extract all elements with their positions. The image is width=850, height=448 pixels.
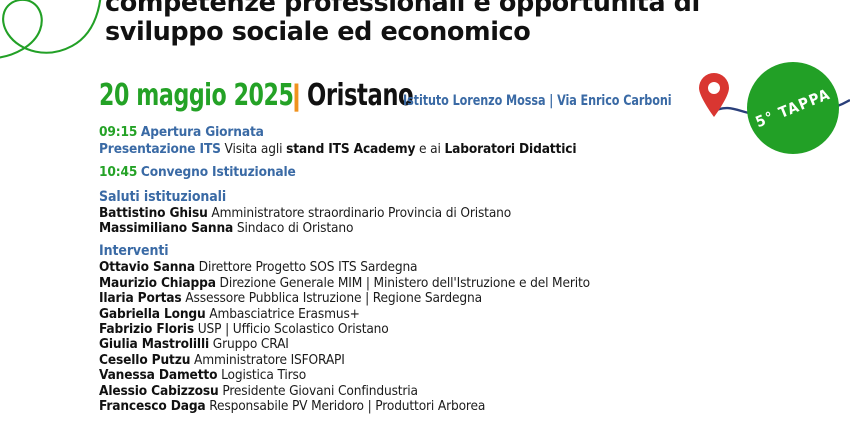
person-role: Direzione Generale MIM | Ministero dell'… (220, 275, 590, 291)
schedule-row: 09:15 Apertura Giornata (99, 124, 799, 141)
event-venue: Istituto Lorenzo Mossa | Via Enrico Carb… (403, 94, 672, 109)
person-row: Ottavio Sanna Direttore Progetto SOS ITS… (99, 260, 799, 275)
person-row: Battistino Ghisu Amministratore straordi… (99, 206, 799, 221)
person-role: Presidente Giovani Confindustria (222, 383, 418, 399)
event-city: Oristano (307, 81, 413, 111)
schedule-title: Apertura Giornata (141, 124, 264, 140)
person-role: Sindaco di Oristano (237, 220, 353, 236)
presentazione-mid2: e ai (415, 141, 444, 157)
event-date: 20 maggio 2025 (99, 81, 294, 111)
person-role: Direttore Progetto SOS ITS Sardegna (199, 259, 418, 275)
person-row: Massimiliano Sanna Sindaco di Oristano (99, 221, 799, 236)
person-name: Battistino Ghisu (99, 205, 208, 221)
event-poster: competenze professionali competenze prof… (0, 0, 850, 448)
person-row: Ilaria Portas Assessore Pubblica Istruzi… (99, 291, 799, 306)
person-row: Gabriella Longu Ambasciatrice Erasmus+ (99, 307, 799, 322)
person-row: Vanessa Dametto Logistica Tirso (99, 368, 799, 383)
person-role: Responsabile PV Meridoro | Produttori Ar… (209, 398, 485, 414)
person-row: Cesello Putzu Amministratore ISFORAPI (99, 353, 799, 368)
person-row: Maurizio Chiappa Direzione Generale MIM … (99, 276, 799, 291)
person-row: Alessio Cabizzosu Presidente Giovani Con… (99, 384, 799, 399)
person-role: Gruppo CRAI (213, 336, 289, 352)
person-name: Vanessa Dametto (99, 367, 217, 383)
person-role: Assessore Pubblica Istruzione | Regione … (185, 290, 482, 306)
section-heading-interventi: Interventi (99, 242, 799, 260)
section-heading-saluti: Saluti istituzionali (99, 188, 799, 206)
person-name: Giulia Mastrolilli (99, 336, 209, 352)
person-row: Fabrizio Floris USP | Ufficio Scolastico… (99, 322, 799, 337)
person-name: Francesco Daga (99, 398, 206, 414)
person-name: Maurizio Chiappa (99, 275, 216, 291)
program-list: 09:15 Apertura Giornata Presentazione IT… (99, 124, 799, 414)
person-role: Ambasciatrice Erasmus+ (209, 306, 359, 322)
person-name: Gabriella Longu (99, 306, 206, 322)
poster-heading: competenze professionali competenze prof… (105, 0, 745, 47)
person-row: Francesco Daga Responsabile PV Meridoro … (99, 399, 799, 414)
presentazione-strong: stand ITS Academy (286, 141, 415, 157)
person-name: Alessio Cabizzosu (99, 383, 219, 399)
person-name: Ottavio Sanna (99, 259, 195, 275)
person-role: USP | Ufficio Scolastico Oristano (198, 321, 389, 337)
person-name: Massimiliano Sanna (99, 220, 233, 236)
presentazione-mid: Visita agli (221, 141, 286, 157)
person-name: Ilaria Portas (99, 290, 182, 306)
person-row: Giulia Mastrolilli Gruppo CRAI (99, 337, 799, 352)
schedule-title: Convegno Istituzionale (141, 164, 296, 180)
heading-line-1: competenze professionali e opportunità d… (105, 0, 745, 18)
person-role: Logistica Tirso (221, 367, 306, 383)
person-role: Amministratore ISFORAPI (194, 352, 345, 368)
schedule-row: 10:45 Convegno Istituzionale (99, 164, 799, 181)
schedule-time: 10:45 (99, 164, 137, 180)
person-name: Cesello Putzu (99, 352, 190, 368)
person-role: Amministratore straordinario Provincia d… (211, 205, 511, 221)
map-pin-icon (697, 72, 731, 118)
schedule-row-presentazione: Presentazione ITS Visita agli stand ITS … (99, 141, 799, 158)
person-name: Fabrizio Floris (99, 321, 194, 337)
schedule-time: 09:15 (99, 124, 137, 140)
presentazione-lead: Presentazione ITS (99, 141, 221, 157)
heading-line-2: sviluppo sociale ed economico (105, 18, 745, 47)
presentazione-strong2: Laboratori Didattici (444, 141, 576, 157)
event-date-row: 20 maggio 2025 | Oristano Istituto Loren… (99, 81, 715, 111)
